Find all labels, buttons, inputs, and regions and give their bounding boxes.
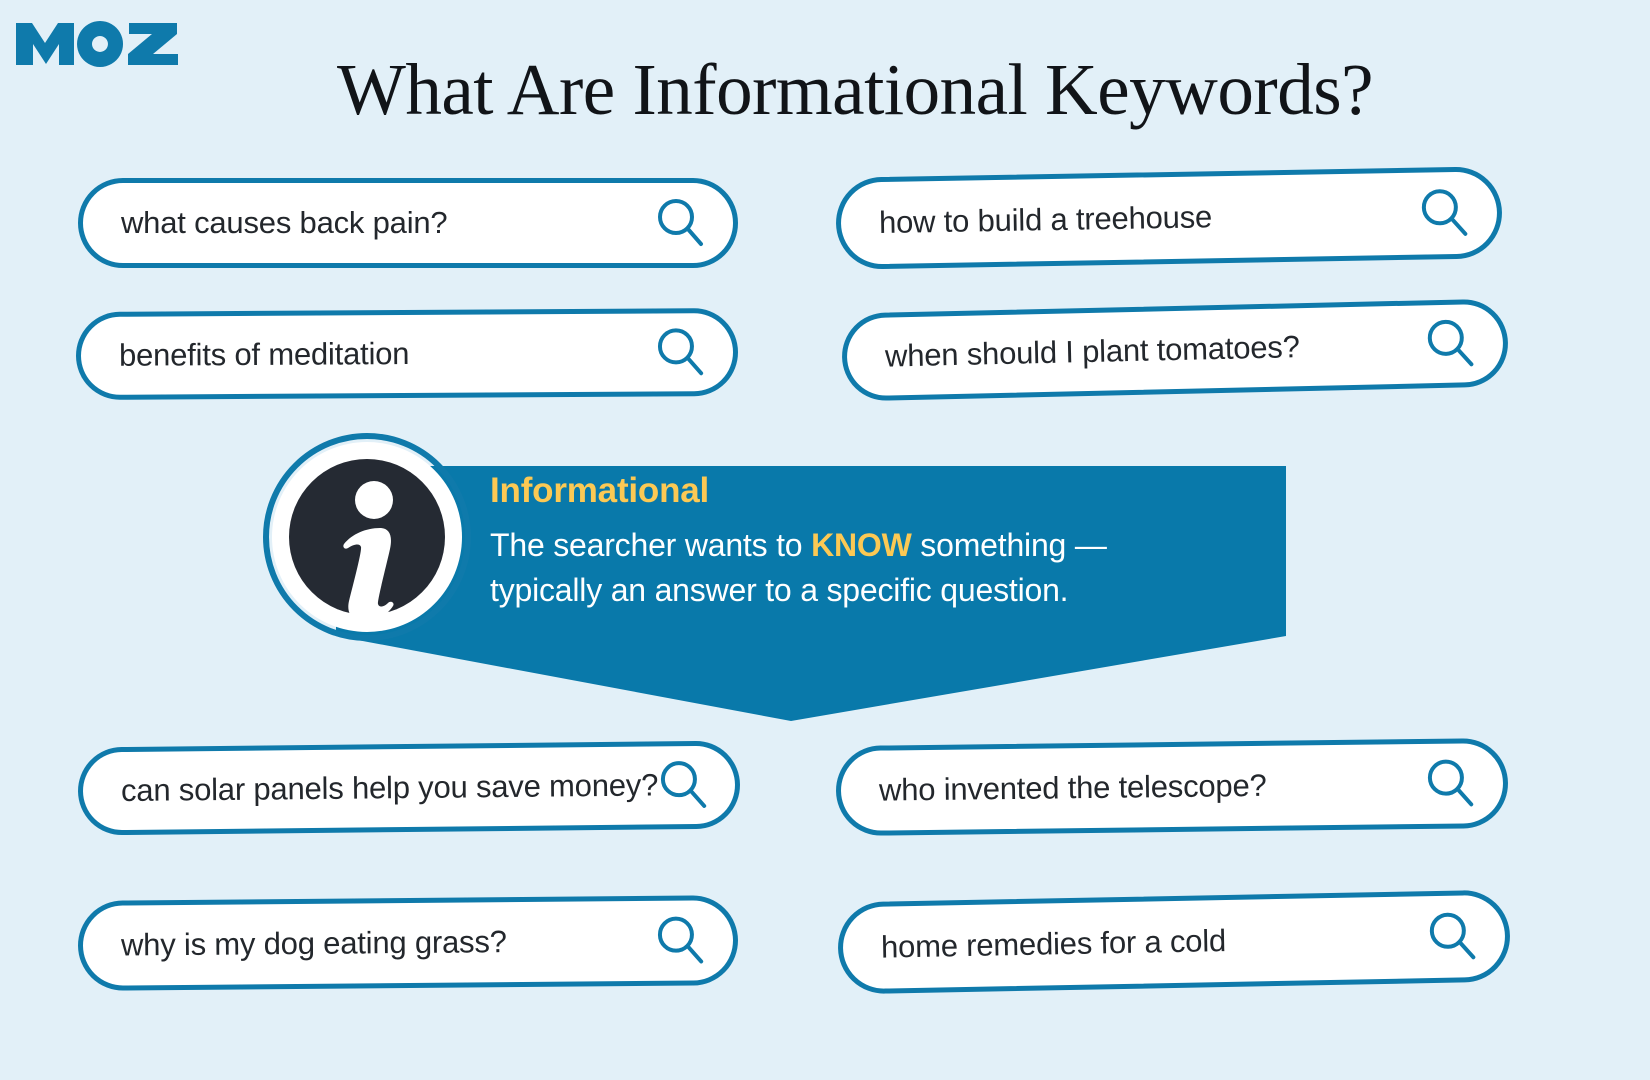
search-box-what-causes-back-pain[interactable]: what causes back pain?	[78, 178, 738, 268]
search-box-query: why is my dog eating grass?	[121, 924, 507, 963]
search-box-benefits-of-meditation[interactable]: benefits of meditation	[76, 308, 739, 400]
page-title: What Are Informational Keywords?	[0, 48, 1650, 132]
search-box-query: when should I plant tomatoes?	[885, 329, 1300, 374]
search-box-when-should-i-plant-tomatoes[interactable]: when should I plant tomatoes?	[841, 298, 1509, 401]
callout-body: The searcher wants to KNOW something — t…	[490, 523, 1190, 614]
callout-body-highlight: KNOW	[811, 527, 912, 563]
infographic-canvas: What Are Informational Keywords? what ca…	[0, 0, 1650, 1080]
search-icon[interactable]	[1425, 756, 1476, 811]
callout-heading: Informational	[490, 472, 1190, 511]
search-icon[interactable]	[655, 196, 705, 250]
search-box-query: can solar panels help you save money?	[121, 767, 659, 809]
search-box-how-to-build-a-treehouse[interactable]: how to build a treehouse	[835, 166, 1503, 270]
search-box-query: benefits of meditation	[119, 336, 410, 374]
search-box-can-solar-panels-help-you-save-money[interactable]: can solar panels help you save money?	[78, 741, 741, 836]
informational-callout: Informational The searcher wants to KNOW…	[336, 446, 1286, 721]
search-box-query: who invented the telescope?	[879, 768, 1267, 809]
search-box-query: what causes back pain?	[121, 205, 447, 241]
search-box-query: home remedies for a cold	[881, 923, 1227, 966]
search-box-why-is-my-dog-eating-grass[interactable]: why is my dog eating grass?	[78, 895, 739, 991]
search-icon[interactable]	[1424, 316, 1475, 371]
search-icon[interactable]	[658, 758, 709, 813]
search-icon[interactable]	[1418, 186, 1469, 241]
callout-body-before: The searcher wants to	[490, 527, 811, 563]
search-box-query: how to build a treehouse	[879, 199, 1213, 241]
search-box-who-invented-the-telescope[interactable]: who invented the telescope?	[835, 738, 1508, 836]
callout-text-block: Informational The searcher wants to KNOW…	[490, 472, 1190, 613]
info-circle-icon	[262, 432, 472, 642]
search-icon[interactable]	[1426, 909, 1477, 964]
search-box-home-remedies-for-a-cold[interactable]: home remedies for a cold	[837, 890, 1511, 995]
search-icon[interactable]	[655, 325, 705, 379]
search-icon[interactable]	[655, 913, 705, 967]
